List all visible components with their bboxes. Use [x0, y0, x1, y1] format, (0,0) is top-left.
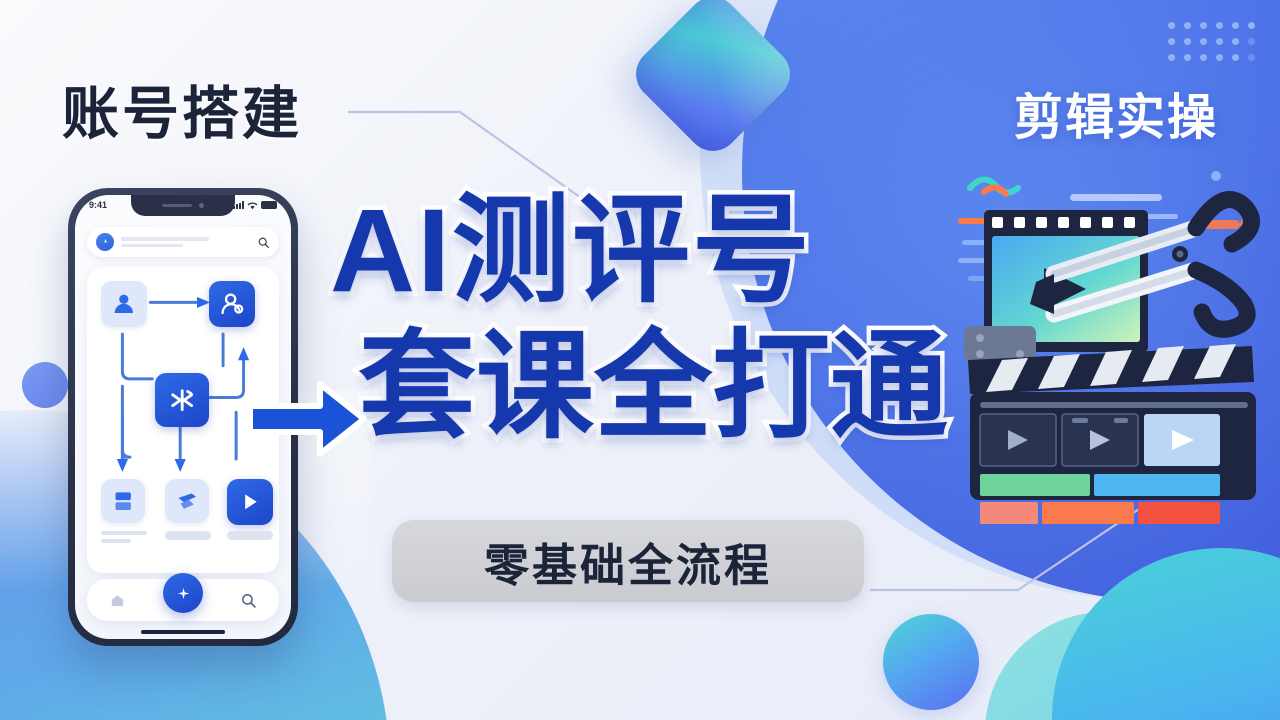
plus-spark-icon: [175, 585, 192, 602]
node-label-stub: [101, 531, 147, 535]
dot-grid-icon: [1168, 22, 1255, 61]
status-bar: 9:41: [75, 200, 291, 210]
decor-circle-small: [22, 362, 68, 408]
search-placeholder-lines: [121, 237, 250, 247]
flow-node-edit[interactable]: [165, 479, 209, 523]
node-label-stub: [101, 539, 131, 543]
user-badge-icon: [218, 290, 246, 318]
flow-node-ai[interactable]: [155, 373, 209, 427]
flow-node-doc[interactable]: [101, 479, 145, 523]
home-indicator: [141, 630, 225, 634]
search-icon[interactable]: [240, 592, 257, 609]
flow-node-creator[interactable]: [209, 281, 255, 327]
subtitle-text: 零基础全流程: [484, 529, 772, 594]
label-top-left: 账号搭建: [62, 68, 302, 150]
poster-canvas: 账号搭建 剪辑实操 AI测评号 套课全打通 零基础全流程 9:41: [0, 0, 1280, 720]
document-icon: [110, 488, 136, 514]
clapper-edit-icon: [174, 488, 200, 514]
flow-node-user[interactable]: [101, 281, 147, 327]
home-icon[interactable]: [109, 592, 126, 609]
subtitle-pill: 零基础全流程: [392, 520, 864, 602]
flow-node-play[interactable]: [227, 479, 273, 525]
wifi-icon: [247, 201, 258, 210]
accent-swoosh-icon: [970, 179, 1018, 194]
node-label-stub: [227, 531, 273, 540]
video-editing-illustration: [958, 158, 1280, 538]
compass-icon: [96, 233, 114, 251]
right-arrow-icon: [248, 372, 368, 466]
search-icon[interactable]: [257, 236, 270, 249]
battery-icon: [261, 201, 277, 209]
ai-spark-icon: [166, 384, 198, 416]
status-time: 9:41: [89, 200, 107, 210]
video-timeline-icon: [980, 402, 1248, 524]
create-fab-button[interactable]: [163, 573, 203, 613]
label-top-right: 剪辑实操: [1014, 78, 1218, 149]
gradient-sphere: [883, 614, 979, 710]
node-label-stub: [165, 531, 211, 540]
signal-bars-icon: [233, 201, 244, 209]
user-icon: [110, 290, 138, 318]
phone-search-bar[interactable]: [87, 227, 279, 257]
clapperboard-icon: [964, 326, 1256, 500]
play-icon: [236, 488, 264, 516]
